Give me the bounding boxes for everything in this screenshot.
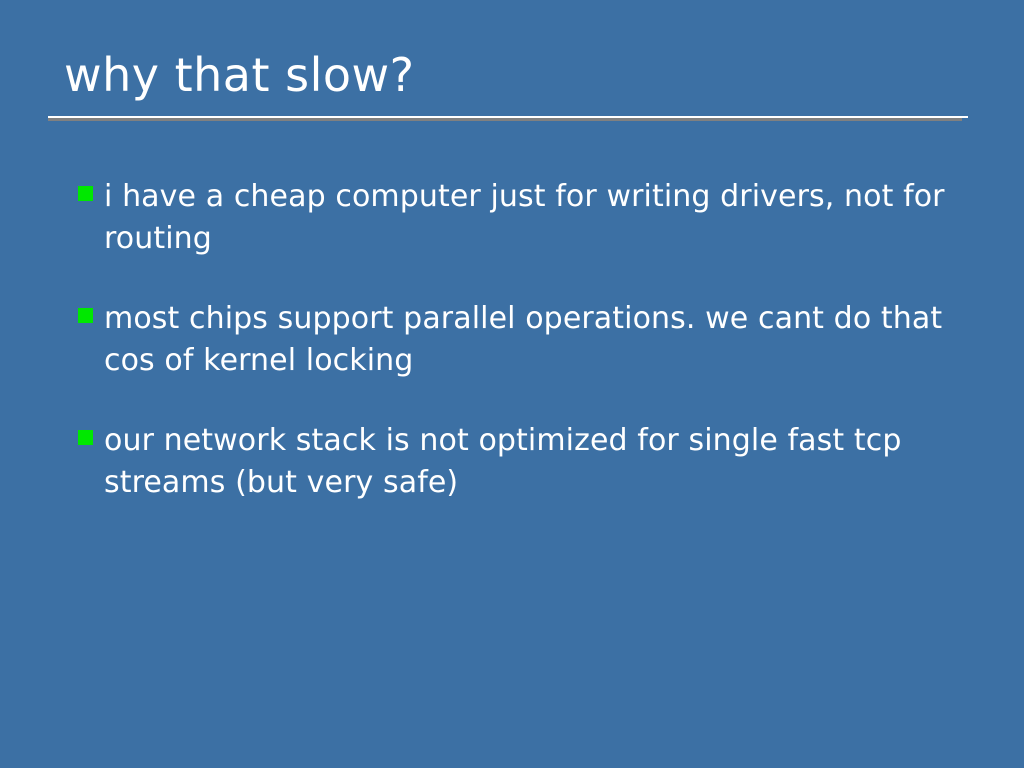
square-bullet-icon (78, 430, 93, 445)
list-item-text: i have a cheap computer just for writing… (104, 176, 978, 260)
title-divider (48, 116, 968, 121)
presentation-slide: why that slow? i have a cheap computer j… (0, 0, 1024, 768)
title-divider-shadow (48, 118, 962, 121)
square-bullet-icon (78, 308, 93, 323)
list-item-text: our network stack is not optimized for s… (104, 420, 978, 504)
list-item: our network stack is not optimized for s… (78, 420, 978, 504)
list-item-text: most chips support parallel operations. … (104, 298, 978, 382)
page-title: why that slow? (48, 46, 976, 104)
slide-title-block: why that slow? (48, 46, 976, 104)
bullet-list: i have a cheap computer just for writing… (78, 176, 978, 504)
list-item: most chips support parallel operations. … (78, 298, 978, 382)
square-bullet-icon (78, 186, 93, 201)
list-item: i have a cheap computer just for writing… (78, 176, 978, 260)
